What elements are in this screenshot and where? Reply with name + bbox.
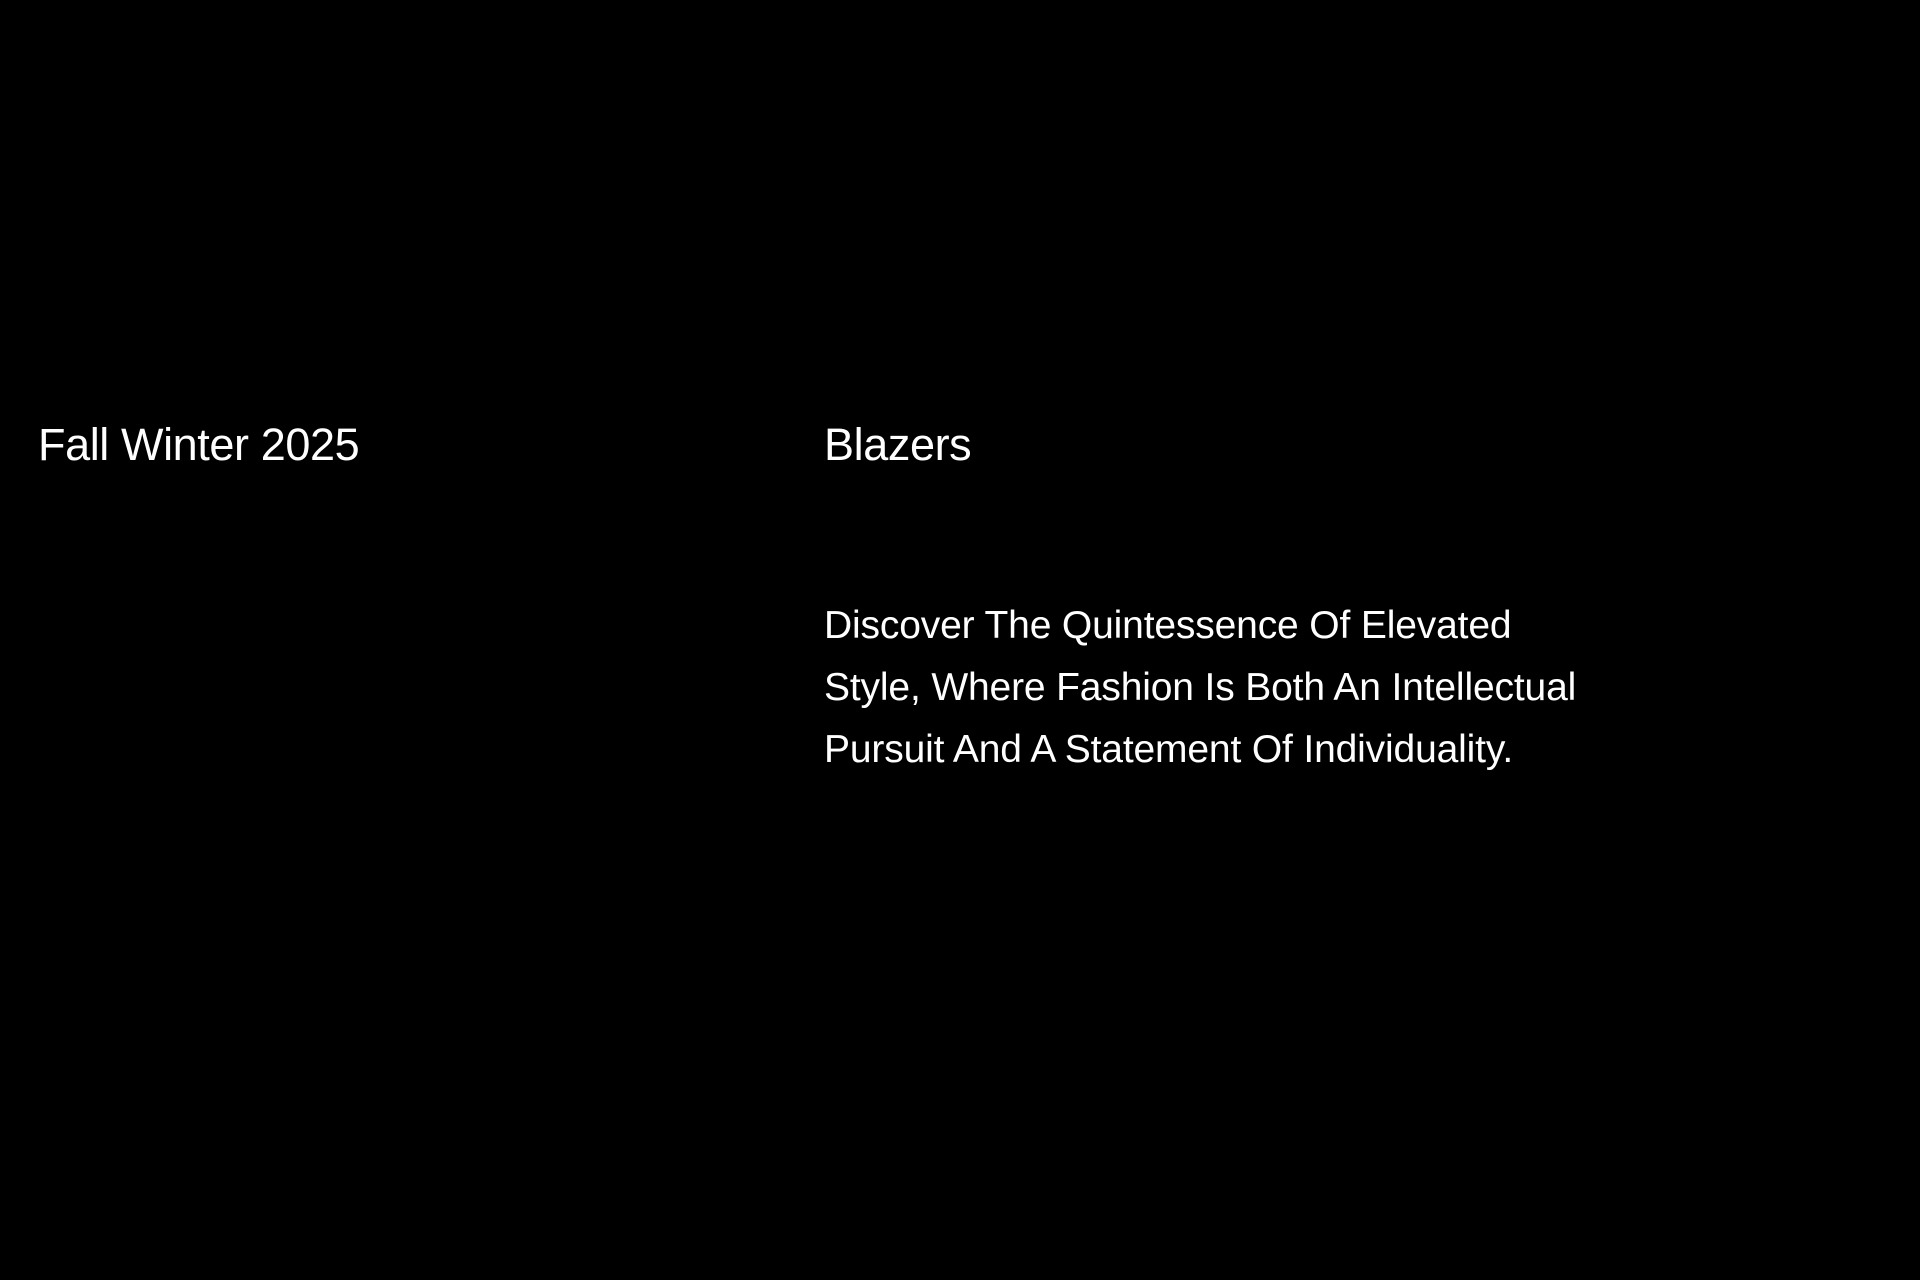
- season-label: Fall Winter 2025: [38, 420, 778, 470]
- season-column: Fall Winter 2025: [38, 420, 778, 470]
- description-line: Style, Where Fashion Is Both An Intellec…: [824, 657, 1824, 719]
- description-line: Pursuit And A Statement Of Individuality…: [824, 719, 1824, 781]
- lookbook-slide: Fall Winter 2025 Blazers Discover The Qu…: [0, 0, 1920, 1280]
- content-column: Blazers Discover The Quintessence Of Ele…: [824, 420, 1884, 781]
- description-line: Discover The Quintessence Of Elevated: [824, 595, 1824, 657]
- description-paragraph: Discover The Quintessence Of Elevated St…: [824, 595, 1824, 781]
- category-title: Blazers: [824, 420, 1884, 470]
